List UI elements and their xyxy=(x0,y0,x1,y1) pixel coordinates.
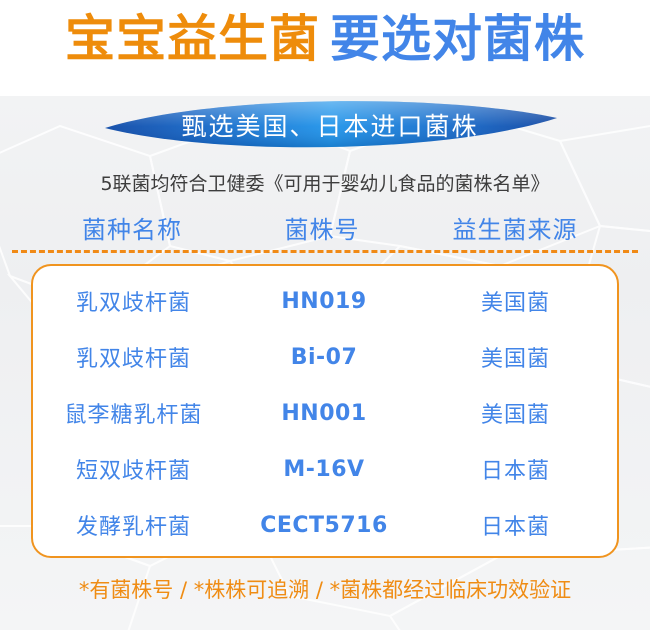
cell-strain-no: M-16V xyxy=(234,457,414,482)
page-title-highlight: 宝宝益生菌 xyxy=(65,10,320,68)
table-header-row: 菌种名称 菌株号 益生菌来源 xyxy=(32,210,618,245)
cell-species: 短双歧杆菌 xyxy=(33,453,234,485)
probiotic-strain-poster: 宝宝益生菌要选对菌株 甄选美国、日本进口菌株 xyxy=(0,0,650,630)
cell-origin: 美国菌 xyxy=(414,285,617,317)
strain-table-card: 乳双歧杆菌 HN019 美国菌 乳双歧杆菌 Bi-07 美国菌 鼠李糖乳杆菌 H… xyxy=(31,264,619,558)
banner-lens: 甄选美国、日本进口菌株 xyxy=(95,96,565,156)
cell-origin: 日本菌 xyxy=(414,509,617,541)
cell-species: 发酵乳杆菌 xyxy=(33,509,234,541)
table-header-species: 菌种名称 xyxy=(32,210,232,245)
cell-strain-no: Bi-07 xyxy=(234,345,414,370)
table-row: 乳双歧杆菌 Bi-07 美国菌 xyxy=(33,329,617,385)
subtitle: 5联菌均符合卫健委《可用于婴幼儿食品的菌株名单》 xyxy=(0,169,650,196)
banner-text: 甄选美国、日本进口菌株 xyxy=(95,96,565,156)
header-divider xyxy=(12,250,638,253)
cell-strain-no: HN001 xyxy=(234,401,414,426)
cell-origin: 日本菌 xyxy=(414,453,617,485)
cell-strain-no: HN019 xyxy=(234,289,414,314)
cell-origin: 美国菌 xyxy=(414,341,617,373)
page-title: 宝宝益生菌要选对菌株 xyxy=(0,14,650,64)
cell-species: 乳双歧杆菌 xyxy=(33,341,234,373)
table-row: 发酵乳杆菌 CECT5716 日本菌 xyxy=(33,497,617,553)
cell-species: 鼠李糖乳杆菌 xyxy=(33,397,234,429)
table-row: 鼠李糖乳杆菌 HN001 美国菌 xyxy=(33,385,617,441)
table-row: 短双歧杆菌 M-16V 日本菌 xyxy=(33,441,617,497)
page-title-secondary: 要选对菌株 xyxy=(330,10,585,68)
footer-claims: *有菌株号 / *株株可追溯 / *菌株都经过临床功效验证 xyxy=(0,574,650,604)
cell-species: 乳双歧杆菌 xyxy=(33,285,234,317)
table-header-origin: 益生菌来源 xyxy=(412,210,618,245)
table-header-strain-no: 菌株号 xyxy=(232,210,412,245)
cell-origin: 美国菌 xyxy=(414,397,617,429)
cell-strain-no: CECT5716 xyxy=(234,513,414,538)
table-row: 乳双歧杆菌 HN019 美国菌 xyxy=(33,273,617,329)
